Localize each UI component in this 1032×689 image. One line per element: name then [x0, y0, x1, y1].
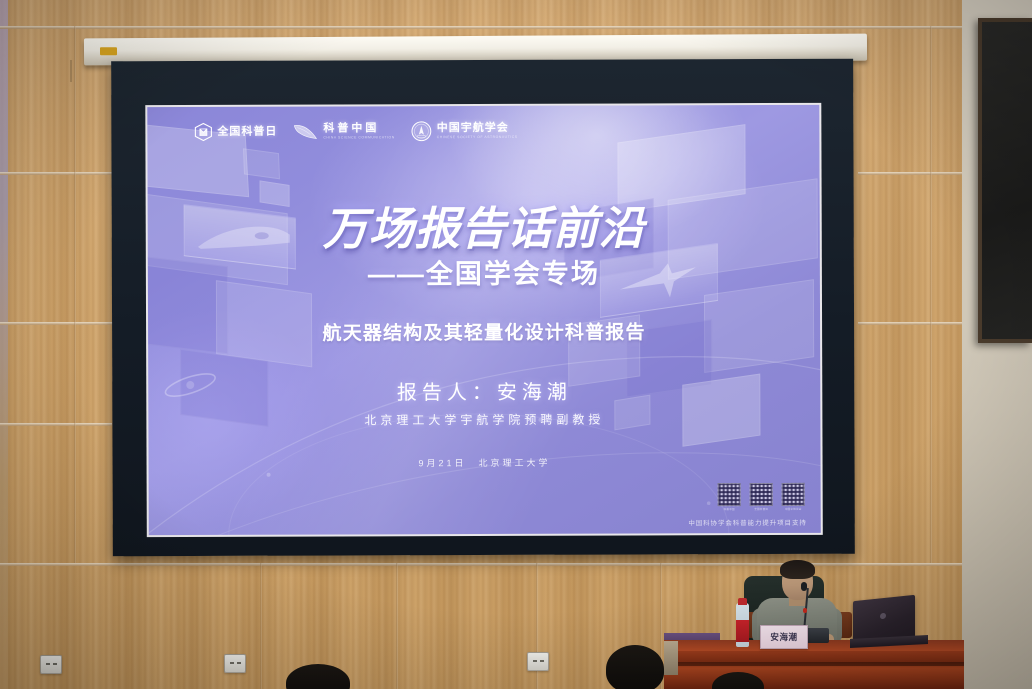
desk-front-panel: [664, 651, 964, 689]
roller-warning-label: [100, 47, 117, 55]
wall-outlet-mid: [224, 654, 246, 673]
speaker-hair: [780, 560, 815, 579]
qr-caption: 中国宇航学会: [785, 507, 802, 511]
desk-side-panel: [664, 641, 678, 675]
wall-vseam-3: [396, 563, 398, 689]
slide-subtitle: ——全国学会专场: [148, 251, 820, 292]
wall-seam-1: [0, 26, 962, 29]
wall-vseam-2: [260, 563, 262, 689]
slide-footer-text: 中国科协学会科普能力提升项目支持: [688, 517, 806, 527]
qr-caption: 科普中国: [724, 507, 735, 511]
speaker-nameplate-text: 安海潮: [770, 631, 797, 643]
roller-pull-cord[interactable]: [70, 60, 72, 82]
qr-code-icon: [750, 482, 773, 505]
logo-national-science-popularization-day: 全国科普日: [193, 122, 277, 142]
audience-head-center: [606, 645, 664, 689]
water-bottle-label: [736, 620, 749, 642]
cube-book-icon: [193, 122, 213, 142]
speaker-nameplate: 安海潮: [760, 625, 808, 649]
wall-seam-5: [0, 563, 962, 566]
desk-molding: [664, 662, 964, 666]
microphone-indicator-light: [803, 608, 807, 613]
wall-left-edge: [0, 0, 8, 689]
logo-label-cn: 科普中国: [323, 123, 394, 136]
qr-code-icon: [782, 482, 805, 505]
logo-china-science-communication: 科普中国 CHINA SCIENCE COMMUNICATION: [293, 122, 394, 140]
logo-chinese-society-of-astronautics: 中国宇航学会 CHINESE SOCIETY OF ASTRONAUTICS: [411, 120, 518, 142]
qr-item: 科普中国: [718, 483, 741, 512]
qr-caption: 全国科普日: [754, 507, 768, 511]
wall-seam-7: [858, 322, 962, 325]
presentation-slide: 全国科普日 科普中国 CHINA SCIENCE COMMUNICATION: [147, 105, 820, 535]
slide-panel-l6: [243, 148, 280, 179]
rocket-emblem-icon: [411, 120, 433, 142]
logo-label-cn: 全国科普日: [217, 125, 277, 138]
wing-icon: [293, 123, 319, 141]
slide-date-venue: 9月21日 北京理工大学: [149, 455, 821, 470]
wall-seam-3: [0, 322, 118, 325]
wall-seam-4: [0, 423, 112, 426]
slide-speaker: 报告人：安海潮: [148, 375, 820, 406]
slide-topic: 航天器结构及其轻量化设计科普报告: [148, 317, 820, 346]
qr-code-icon: [718, 483, 741, 506]
projection-screen: 全国科普日 科普中国 CHINA SCIENCE COMMUNICATION: [111, 59, 855, 557]
slide-qr-group: 科普中国 全国科普日 中国宇航学会: [718, 482, 805, 511]
water-bottle-cap: [738, 598, 747, 605]
logo-label-en: CHINESE SOCIETY OF ASTRONAUTICS: [437, 136, 518, 140]
slide-affiliation: 北京理工大学宇航学院预聘副教授: [148, 410, 820, 429]
logo-label-cn: 中国宇航学会: [437, 122, 518, 135]
microphone-head: [801, 582, 807, 591]
wall-vseam-1: [74, 26, 76, 563]
wall-outlet-left: [40, 655, 62, 674]
slide-logo-strip: 全国科普日 科普中国 CHINA SCIENCE COMMUNICATION: [193, 120, 517, 143]
wall-seam-2: [0, 172, 120, 175]
logo-label-en: CHINA SCIENCE COMMUNICATION: [323, 136, 394, 140]
slide-main-title: 万场报告话前沿: [148, 191, 820, 258]
wall-vseam-6: [930, 26, 932, 563]
lecture-hall-photo: 全国科普日 科普中国 CHINA SCIENCE COMMUNICATION: [0, 0, 1032, 689]
microphone-base: [806, 628, 829, 643]
dark-wall-display: [978, 18, 1032, 343]
qr-item: 全国科普日: [750, 482, 773, 511]
wall-outlet-right: [527, 652, 549, 671]
wall-seam-6: [858, 172, 962, 175]
qr-item: 中国宇航学会: [782, 482, 805, 511]
